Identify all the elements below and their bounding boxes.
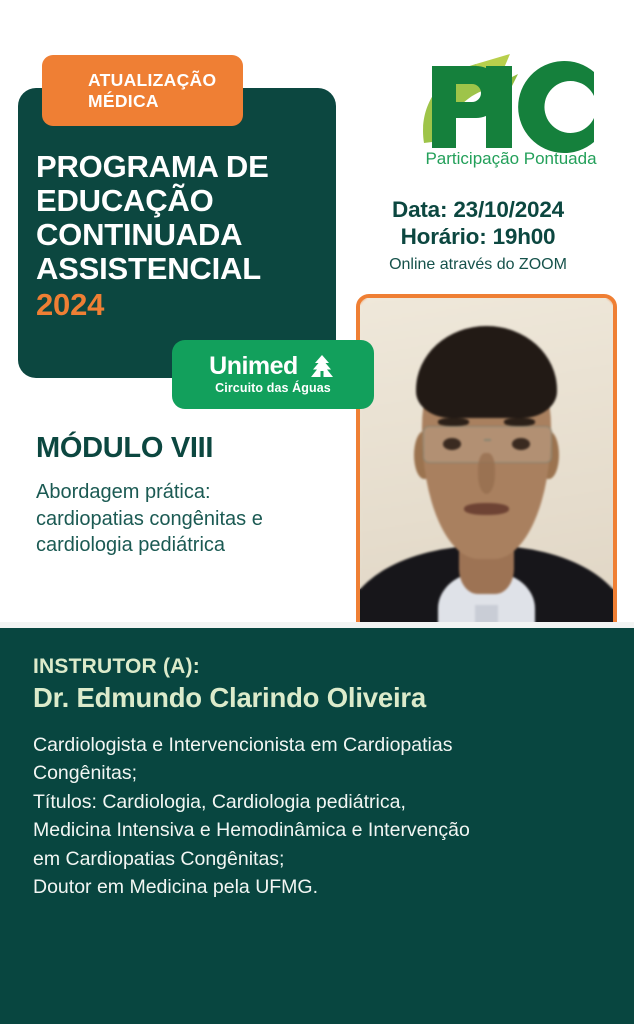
badge-line-1: ATUALIZAÇÃO [65, 70, 216, 90]
pic-logo-svg: Participação Pontuada [418, 48, 604, 168]
instructor-bio-line: Títulos: Cardiologia, Cardiologia pediát… [33, 788, 604, 816]
instructor-bio-line: Doutor em Medicina pela UFMG. [33, 873, 604, 901]
instructor-inner: INSTRUTOR (A): Dr. Edmundo Clarindo Oliv… [0, 628, 634, 902]
module-desc-line-3: cardiologia pediátrica [36, 532, 336, 559]
program-title: PROGRAMA DE EDUCAÇÃO CONTINUADA ASSISTEN… [36, 150, 269, 322]
instructor-bio-line: Congênitas; [33, 759, 604, 787]
event-platform: Online através do ZOOM [330, 254, 626, 276]
program-title-line-1: PROGRAMA DE [36, 150, 269, 184]
instructor-name: Dr. Edmundo Clarindo Oliveira [33, 682, 604, 714]
event-time: Horário: 19h00 [330, 223, 626, 250]
instructor-bio-line: em Cardiopatias Congênitas; [33, 845, 604, 873]
instructor-bio-line: Medicina Intensiva e Hemodinâmica e Inte… [33, 816, 604, 844]
pic-logo: Participação Pontuada [418, 48, 604, 168]
instructor-bio: Cardiologista e Intervencionista em Card… [33, 731, 604, 902]
module-desc-line-2: cardiopatias congênitas e [36, 506, 336, 533]
instructor-photo-inner [360, 298, 613, 668]
program-year: 2024 [36, 288, 269, 322]
event-details: Data: 23/10/2024 Horário: 19h00 Online a… [330, 196, 626, 275]
instructor-label: INSTRUTOR (A): [33, 655, 604, 679]
event-poster: PROGRAMA DE EDUCAÇÃO CONTINUADA ASSISTEN… [0, 0, 634, 1024]
program-title-line-2: EDUCAÇÃO [36, 184, 269, 218]
pic-tagline: Participação Pontuada [425, 149, 597, 168]
pic-wordmark [432, 61, 594, 153]
module-section: MÓDULO VIII Abordagem prática: cardiopat… [36, 432, 336, 559]
instructor-bio-line: Cardiologista e Intervencionista em Card… [33, 731, 604, 759]
instructor-photo [356, 294, 617, 672]
badge-text: ATUALIZAÇÃOMÉDICA [42, 70, 216, 111]
instructor-section: INSTRUTOR (A): Dr. Edmundo Clarindo Oliv… [0, 628, 634, 1024]
unimed-badge: Unimed Circuito das Águas [172, 340, 374, 409]
module-title: MÓDULO VIII [36, 432, 336, 465]
badge-line-2: MÉDICA [65, 91, 159, 111]
atualizacao-medica-badge: ATUALIZAÇÃOMÉDICA [42, 55, 243, 126]
unimed-figure-icon [307, 354, 337, 379]
program-title-line-3: CONTINUADA [36, 218, 269, 252]
unimed-subtitle: Circuito das Águas [215, 381, 331, 395]
event-date: Data: 23/10/2024 [330, 196, 626, 223]
unimed-row: Unimed [209, 354, 337, 379]
photo-blur-overlay [360, 298, 613, 668]
module-desc-line-1: Abordagem prática: [36, 479, 336, 506]
unimed-wordmark: Unimed [209, 354, 298, 379]
program-title-line-4: ASSISTENCIAL [36, 252, 269, 286]
module-description: Abordagem prática: cardiopatias congênit… [36, 479, 336, 559]
